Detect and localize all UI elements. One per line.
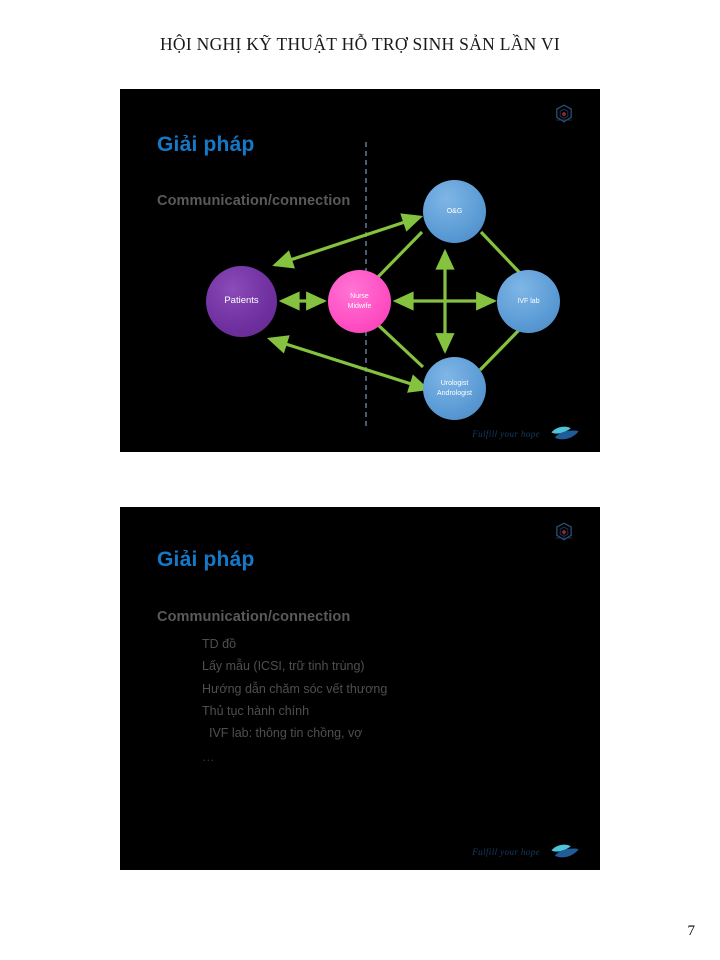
diagram-node-urologist[interactable]: Urologist Andrologist [423, 357, 486, 420]
list-item: Hướng dẫn chăm sóc vết thương [157, 678, 557, 700]
list-item: … [157, 744, 557, 768]
diagram-node-patients[interactable]: Patients [206, 266, 277, 337]
list-item: TD đồ [157, 633, 557, 655]
document-page: HỘI NGHỊ KỸ THUẬT HỖ TRỢ SINH SẢN LẦN VI… [0, 0, 720, 960]
slide-2-brand: Fulfill your hope [472, 843, 582, 860]
leaf-logo [548, 843, 582, 860]
page-number: 7 [688, 923, 696, 940]
edge-urologist-ivf [480, 329, 520, 370]
node-urologist-label-2: Andrologist [437, 389, 472, 398]
network-diagram: Patients Nurse Midwife O&G IVF lab Urolo… [120, 89, 600, 452]
slide-2: Giải pháp Communication/connection TD đồ… [120, 507, 600, 870]
brand-tagline: Fulfill your hope [472, 429, 540, 439]
leaf-logo [548, 425, 582, 442]
node-urologist-label-1: Urologist [441, 379, 469, 388]
edge-nurse-og [376, 232, 422, 279]
list-item: IVF lab: thông tin chồng, vợ [157, 722, 557, 744]
node-ivf-label: IVF lab [517, 297, 539, 306]
slide-2-subtitle: Communication/connection [157, 609, 350, 625]
bullet-list: TD đồ Lấy mẫu (ICSI, trữ tinh trùng) Hướ… [157, 633, 557, 769]
diagram-node-ivf-lab[interactable]: IVF lab [497, 270, 560, 333]
slide-1: Giải pháp Communication/connection [120, 89, 600, 452]
slide-1-brand: Fulfill your hope [472, 425, 582, 442]
diagram-node-nurse[interactable]: Nurse Midwife [328, 270, 391, 333]
page-title: HỘI NGHỊ KỸ THUẬT HỖ TRỢ SINH SẢN LẦN VI [0, 34, 720, 55]
hexagon-badge-logo [553, 521, 575, 543]
node-nurse-label-2: Midwife [348, 302, 372, 311]
brand-tagline: Fulfill your hope [472, 847, 540, 857]
node-nurse-label-1: Nurse [350, 292, 369, 301]
edge-nurse-urologist [377, 324, 423, 367]
node-patients-label: Patients [224, 295, 258, 308]
node-og-label: O&G [447, 207, 463, 216]
list-item: Thủ tục hành chính [157, 700, 557, 722]
edge-og-ivf [481, 232, 520, 273]
slide-2-title: Giải pháp [157, 548, 254, 572]
diagram-node-og[interactable]: O&G [423, 180, 486, 243]
edge-patients-urologist [270, 339, 427, 389]
list-item: Lấy mẫu (ICSI, trữ tinh trùng) [157, 655, 557, 677]
